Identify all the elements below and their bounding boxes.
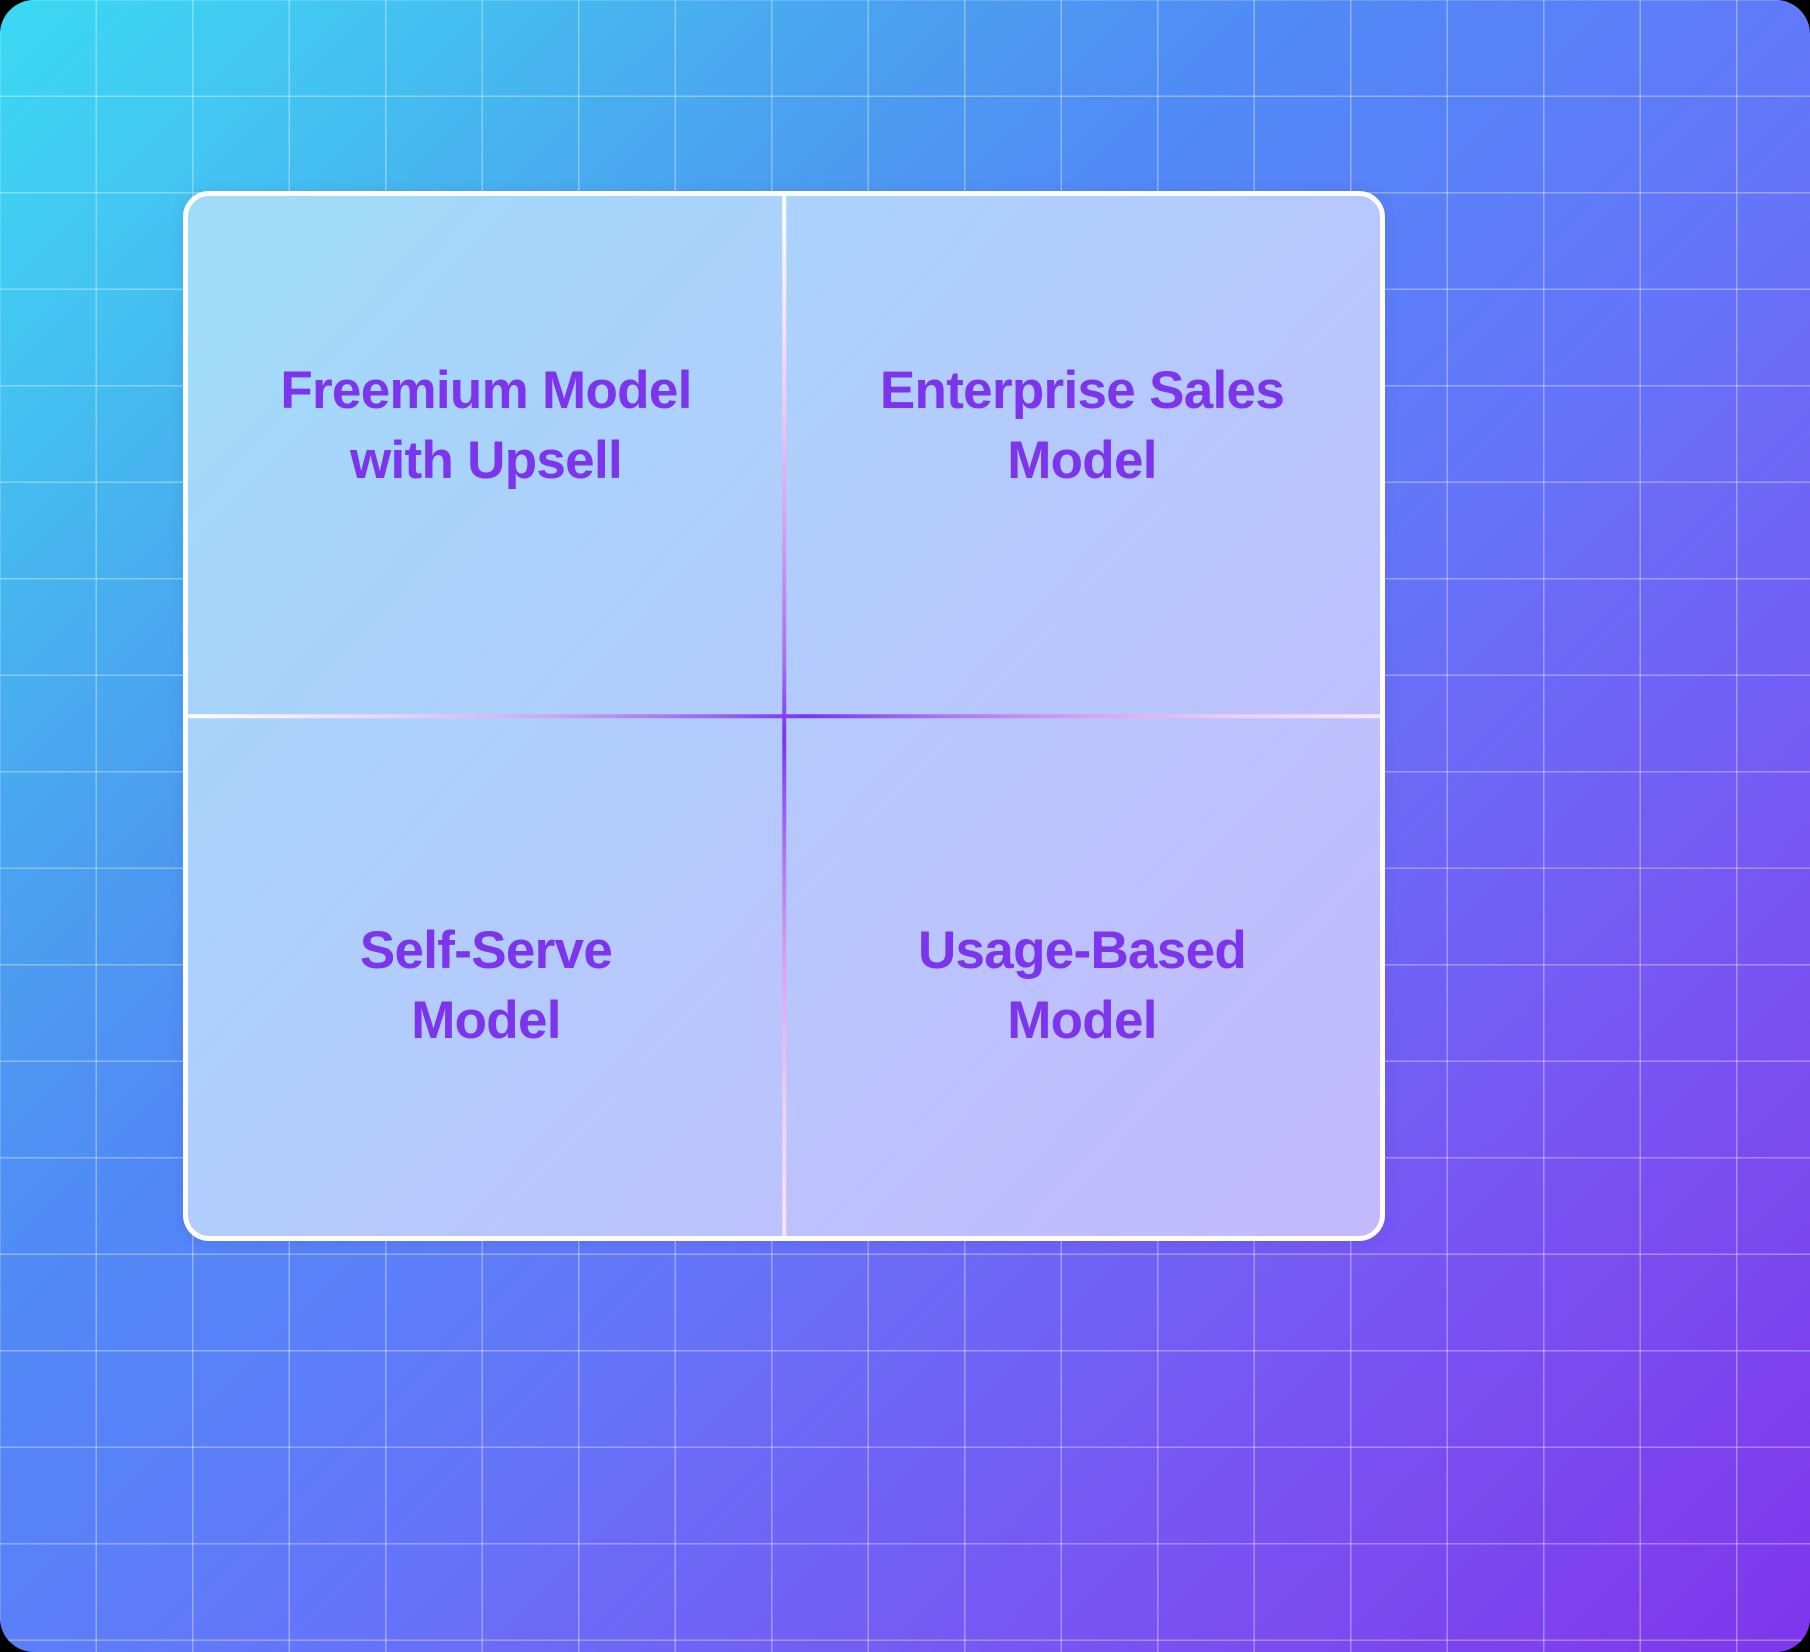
quadrant-top-left-label: Freemium Model with Upsell [280, 356, 691, 496]
quadrant-bottom-right-label: Usage-Based Model [918, 916, 1246, 1056]
quadrant-top-right-label: Enterprise Sales Model [880, 356, 1284, 496]
quadrant-grid: Freemium Model with Upsell Enterprise Sa… [188, 196, 1380, 1236]
quadrant-bottom-left-label: Self-Serve Model [360, 916, 612, 1056]
quadrant-top-left[interactable]: Freemium Model with Upsell [188, 196, 784, 716]
two-by-two-matrix-card: Freemium Model with Upsell Enterprise Sa… [183, 191, 1385, 1241]
quadrant-bottom-right[interactable]: Usage-Based Model [784, 716, 1380, 1236]
quadrant-bottom-left[interactable]: Self-Serve Model [188, 716, 784, 1236]
slide-canvas: Freemium Model with Upsell Enterprise Sa… [0, 0, 1810, 1652]
quadrant-top-right[interactable]: Enterprise Sales Model [784, 196, 1380, 716]
